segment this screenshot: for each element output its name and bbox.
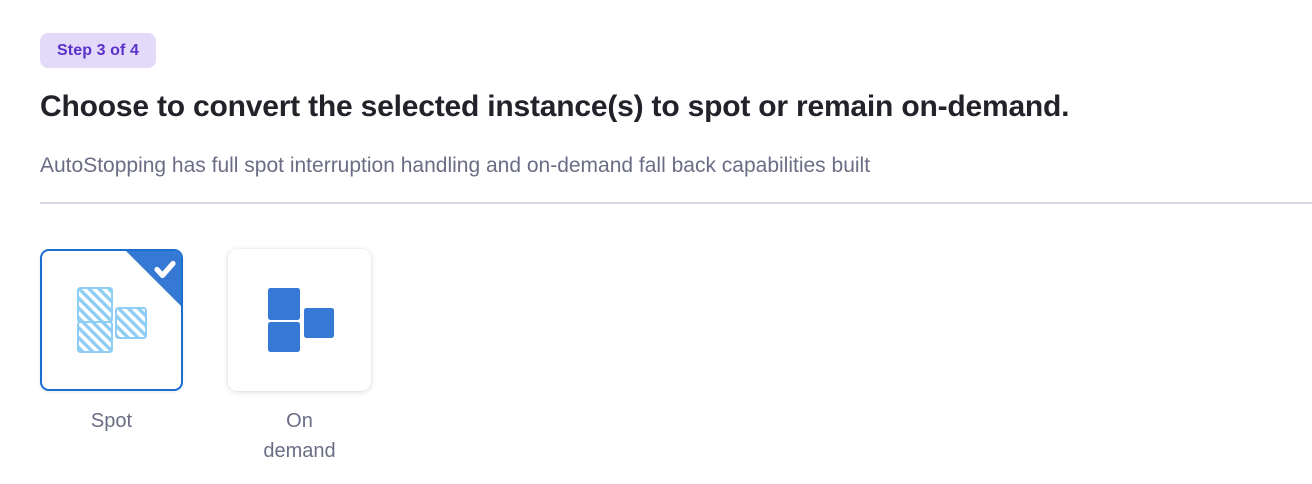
page-title: Choose to convert the selected instance(…: [40, 86, 1069, 128]
option-label-spot: Spot: [40, 406, 183, 436]
option-card-on-demand[interactable]: [228, 249, 371, 391]
option-card-row: Spot On demand: [40, 249, 371, 466]
page-subtitle: AutoStopping has full spot interruption …: [40, 150, 870, 182]
option-label-on-demand: On demand: [250, 406, 350, 466]
spot-or-ondemand-step-page: Step 3 of 4 Choose to convert the select…: [0, 0, 1312, 484]
option-spot[interactable]: Spot: [40, 249, 183, 436]
three-squares-solid-icon: [229, 250, 370, 390]
status-badge-step: Step 3 of 4: [40, 33, 156, 68]
option-on-demand[interactable]: On demand: [228, 249, 371, 466]
header-divider: [40, 202, 1312, 204]
three-squares-hatched-icon: [42, 251, 181, 389]
option-card-spot[interactable]: [40, 249, 183, 391]
